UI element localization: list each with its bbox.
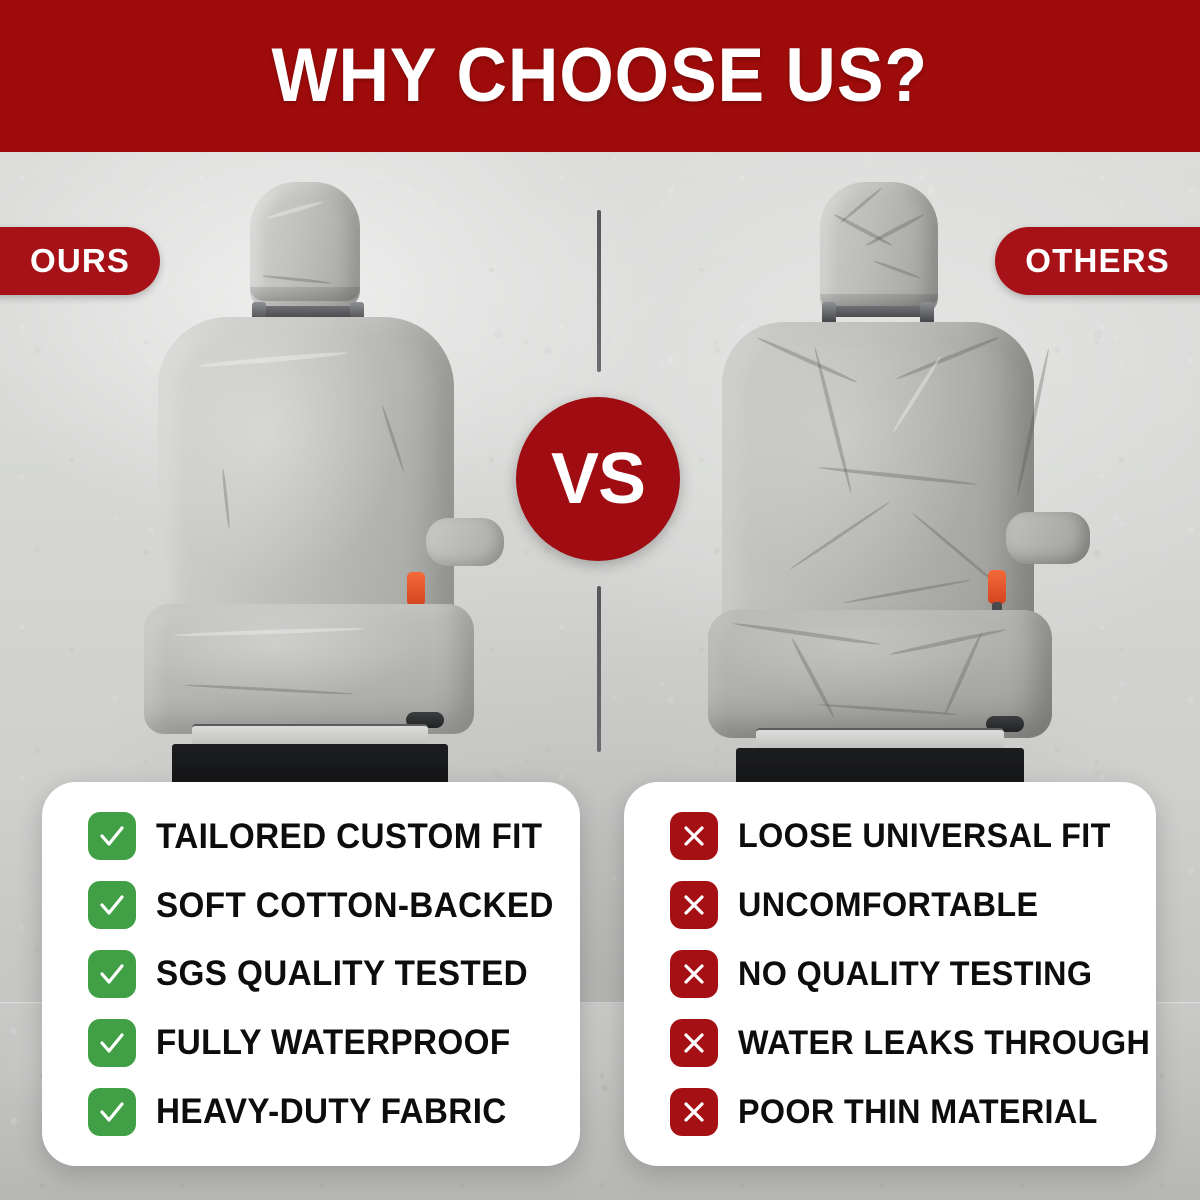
headrest-ours: [250, 182, 360, 307]
headrest-posts-others: [818, 302, 938, 324]
headrest-others: [820, 182, 938, 314]
backrest-others: [722, 322, 1034, 652]
badge-others: OTHERS: [995, 227, 1200, 295]
features-card-ours: TAILORED CUSTOM FIT SOFT COTTON-BACKED S…: [42, 782, 580, 1166]
cross-icon: [670, 1088, 718, 1136]
feature-label: FULLY WATERPROOF: [156, 1025, 511, 1060]
list-item: HEAVY-DUTY FABRIC: [88, 1083, 558, 1140]
seatbelt-buckle-others: [988, 570, 1006, 604]
check-icon: [88, 1019, 136, 1067]
list-item: SOFT COTTON-BACKED: [88, 877, 558, 934]
list-item: WATER LEAKS THROUGH: [670, 1014, 1134, 1071]
feature-label: NO QUALITY TESTING: [738, 957, 1092, 991]
headrest-hem: [250, 287, 360, 301]
seat-image-ours: [130, 172, 510, 772]
divider-line-top: [597, 210, 601, 372]
page-title: WHY CHOOSE US?: [272, 38, 928, 114]
check-icon: [88, 950, 136, 998]
feature-label: WATER LEAKS THROUGH: [738, 1026, 1150, 1060]
armrest-others: [1006, 512, 1090, 564]
divider-line-bottom: [597, 586, 601, 752]
list-item: SGS QUALITY TESTED: [88, 946, 558, 1003]
list-item: FULLY WATERPROOF: [88, 1014, 558, 1071]
list-item: TAILORED CUSTOM FIT: [88, 808, 558, 865]
features-card-others: LOOSE UNIVERSAL FIT UNCOMFORTABLE NO QUA…: [624, 782, 1156, 1166]
check-icon: [88, 812, 136, 860]
vs-label: VS: [551, 443, 645, 515]
vs-badge: VS: [516, 397, 680, 561]
badge-others-label: OTHERS: [1025, 242, 1170, 280]
feature-label: UNCOMFORTABLE: [738, 888, 1038, 922]
comparison-infographic: WHY CHOOSE US? OURS OTHERS VS: [0, 0, 1200, 1200]
badge-ours-label: OURS: [30, 242, 130, 280]
feature-label: SGS QUALITY TESTED: [156, 956, 528, 991]
cross-icon: [670, 950, 718, 998]
seatbelt-buckle-ours: [407, 572, 425, 606]
check-icon: [88, 1088, 136, 1136]
list-item: LOOSE UNIVERSAL FIT: [670, 808, 1134, 865]
feature-label: POOR THIN MATERIAL: [738, 1095, 1098, 1129]
cross-icon: [670, 881, 718, 929]
feature-label: HEAVY-DUTY FABRIC: [156, 1094, 507, 1129]
badge-ours: OURS: [0, 227, 160, 295]
check-icon: [88, 881, 136, 929]
list-item: NO QUALITY TESTING: [670, 946, 1134, 1003]
list-item: UNCOMFORTABLE: [670, 877, 1134, 934]
feature-label: LOOSE UNIVERSAL FIT: [738, 819, 1111, 853]
header-banner: WHY CHOOSE US?: [0, 0, 1200, 152]
armrest-ours: [426, 518, 504, 566]
list-item: POOR THIN MATERIAL: [670, 1083, 1134, 1140]
cross-icon: [670, 812, 718, 860]
cross-icon: [670, 1019, 718, 1067]
feature-label: SOFT COTTON-BACKED: [156, 888, 554, 923]
feature-label: TAILORED CUSTOM FIT: [156, 819, 543, 854]
